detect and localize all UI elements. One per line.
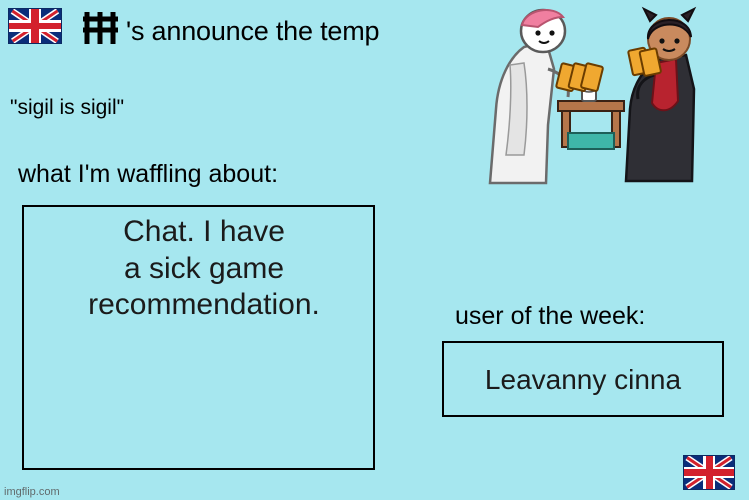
union-jack-flag-icon bbox=[8, 8, 62, 44]
sigil-glyph-icon bbox=[80, 10, 126, 46]
table-shape bbox=[558, 101, 624, 149]
imgflip-watermark: imgflip.com bbox=[4, 486, 60, 498]
user-of-the-week-label: user of the week: bbox=[455, 302, 645, 331]
right-character-cards bbox=[628, 45, 661, 78]
right-character bbox=[626, 9, 694, 181]
waffling-label: what I'm waffling about: bbox=[18, 160, 278, 189]
page-title: 's announce the temp bbox=[126, 16, 379, 47]
left-character-cards bbox=[556, 57, 603, 97]
union-jack-flag-icon bbox=[683, 455, 735, 490]
user-of-the-week-text: Leavanny cinna bbox=[442, 364, 724, 396]
artwork-illustration bbox=[450, 5, 712, 195]
meme-canvas: 's announce the temp "sigil is sigil" wh… bbox=[0, 0, 749, 500]
flag-cross bbox=[9, 9, 61, 43]
quote-text: "sigil is sigil" bbox=[10, 96, 124, 120]
main-textbox-text: Chat. I have a sick game recommendation. bbox=[24, 214, 384, 324]
flag-cross bbox=[684, 456, 734, 489]
